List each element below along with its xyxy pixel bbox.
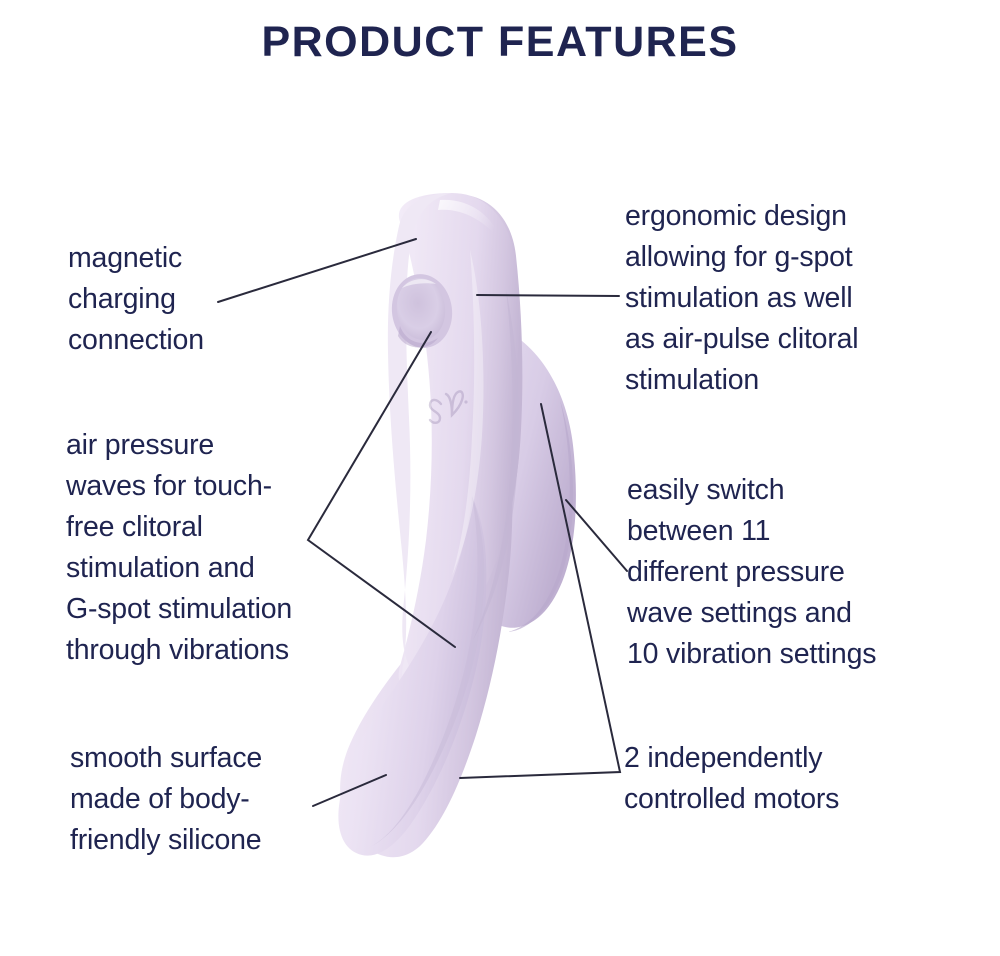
callout-line: charging <box>68 279 204 320</box>
callout-line: 10 vibration settings <box>627 634 876 675</box>
callout-ergonomic-design: ergonomic design allowing for g-spot sti… <box>625 196 858 401</box>
callout-line: G-spot stimulation <box>66 589 292 630</box>
callout-line: easily switch <box>627 470 876 511</box>
callout-line: allowing for g-spot <box>625 237 858 278</box>
callout-line: stimulation and <box>66 548 292 589</box>
callout-line: 2 independently <box>624 738 839 779</box>
callout-line: controlled motors <box>624 779 839 820</box>
product-features-infographic: PRODUCT FEATURES <box>0 0 1000 956</box>
callout-line: smooth surface <box>70 738 262 779</box>
callout-line: connection <box>68 320 204 361</box>
callout-air-pressure-waves: air pressure waves for touch- free clito… <box>66 425 292 671</box>
callout-line: wave settings and <box>627 593 876 634</box>
callout-line: magnetic <box>68 238 204 279</box>
callout-line: air pressure <box>66 425 292 466</box>
callout-line: friendly silicone <box>70 820 262 861</box>
callout-independent-motors: 2 independently controlled motors <box>624 738 839 820</box>
callout-line: stimulation <box>625 360 858 401</box>
callout-line: through vibrations <box>66 630 292 671</box>
callout-line: made of body- <box>70 779 262 820</box>
callout-line: free clitoral <box>66 507 292 548</box>
callout-line: as air-pulse clitoral <box>625 319 858 360</box>
callout-smooth-surface: smooth surface made of body- friendly si… <box>70 738 262 861</box>
callout-magnetic-charging-connection: magnetic charging connection <box>68 238 204 361</box>
callout-line: ergonomic design <box>625 196 858 237</box>
callout-line: between 11 <box>627 511 876 552</box>
callout-line: different pressure <box>627 552 876 593</box>
callout-settings: easily switch between 11 different press… <box>627 470 876 675</box>
callout-line: waves for touch- <box>66 466 292 507</box>
callout-line: stimulation as well <box>625 278 858 319</box>
